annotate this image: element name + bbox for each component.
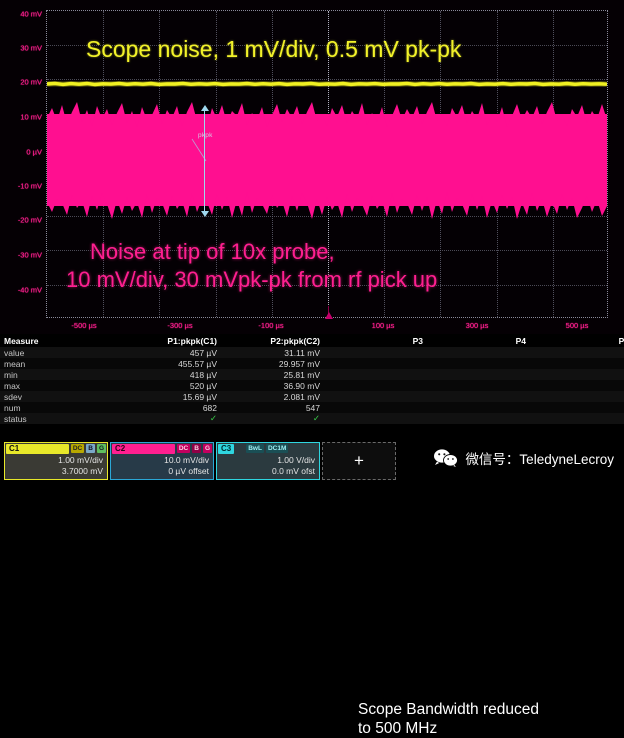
channel-flag-ground-c2[interactable]: G [203,444,212,453]
table-row: mean 455.57 µV 29.957 mV [0,358,624,369]
row-value-p2: 547 [221,402,324,413]
channel-offset-c3: 0.0 mV ofst [217,466,315,477]
measure-title: Measure [0,334,118,347]
waveform-trace-c2 [47,100,607,220]
row-label: max [0,380,118,391]
channel-values-c3: 1.00 V/div 0.0 mV ofst [217,454,319,477]
x-axis-tick: -100 µs [258,321,283,330]
measure-col-p5[interactable]: P5 [530,334,624,347]
row-value-p2: 36.90 mV [221,380,324,391]
annotation-probe-line2: 10 mV/div, 30 mVpk-pk from rf pick up [66,267,437,293]
y-axis-tick: -10 mV [0,182,42,191]
row-value-p3 [324,347,427,358]
row-value-p1: 457 µV [118,347,221,358]
annotation-bandwidth-line1: Scope Bandwidth reduced [358,700,539,719]
annotation-bandwidth: Scope Bandwidth reduced to 500 MHz [358,700,539,738]
table-row: num 682 547 [0,402,624,413]
channel-header-c1: C1 DC B G [5,443,107,454]
row-value-p1: 418 µV [118,369,221,380]
waveform-trace-c1 [47,79,607,89]
channel-values-c1: 1.00 mV/div 3.7000 mV [5,454,107,477]
y-axis-tick: 40 mV [0,10,42,19]
table-row: value 457 µV 31.11 mV [0,347,624,358]
row-label: num [0,402,118,413]
row-value-p1: 455.57 µV [118,358,221,369]
measure-col-p1[interactable]: P1:pkpk(C1) [118,334,221,347]
channel-label-c2[interactable]: C2 [112,444,175,454]
y-axis-tick: 0 µV [0,148,42,157]
channel-offset-c1: 3.7000 mV [5,466,103,477]
row-value-p5 [530,402,624,413]
channel-label-c3[interactable]: C3 [218,444,234,454]
row-label: min [0,369,118,380]
row-value-p4 [427,358,530,369]
row-value-p3 [324,402,427,413]
row-value-p4 [427,402,530,413]
trigger-marker-icon[interactable] [325,312,333,319]
row-value-p3 [324,369,427,380]
channel-flag-dc1m-c3[interactable]: DC1M [266,444,288,453]
channel-offset-c2: 0 µV offset [111,466,209,477]
channel-header-c2: C2 DC B G [111,443,213,454]
wechat-footer-badge: 微信号：TeledyneLecroy [433,448,614,468]
row-value-p3 [324,380,427,391]
row-value-p5 [530,358,624,369]
measure-col-p2[interactable]: P2:pkpk(C2) [221,334,324,347]
status-check-p2: ✓ [221,413,324,424]
row-label: status [0,413,118,424]
annotation-bandwidth-line2: to 500 MHz [358,719,539,738]
channel-flag-coupling-c1[interactable]: DC [71,444,84,453]
channel-card-c3[interactable]: C3 BwL DC1M 1.00 V/div 0.0 mV ofst [216,442,320,480]
row-value-p2: 29.957 mV [221,358,324,369]
pkpk-cursor-label: pkpk [198,132,213,139]
row-value-p2: 31.11 mV [221,347,324,358]
measure-header-row: Measure P1:pkpk(C1) P2:pkpk(C2) P3 P4 P5 [0,334,624,347]
row-value-p2: 25.81 mV [221,369,324,380]
cursor-leader-line [191,138,207,162]
add-channel-button[interactable]: + [322,442,396,480]
channel-flag-bandwidth-c1[interactable]: B [86,444,95,453]
measure-col-p4[interactable]: P4 [427,334,530,347]
channel-scale-c1: 1.00 mV/div [5,455,103,466]
annotation-scope-noise: Scope noise, 1 mV/div, 0.5 mV pk-pk [86,36,461,63]
row-value-p4 [427,413,530,424]
measure-col-p3[interactable]: P3 [324,334,427,347]
row-value-p3 [324,358,427,369]
table-row: min 418 µV 25.81 mV [0,369,624,380]
channel-values-c2: 10.0 mV/div 0 µV offset [111,454,213,477]
y-axis-tick: 20 mV [0,78,42,87]
table-row: max 520 µV 36.90 mV [0,380,624,391]
y-axis-tick: -30 mV [0,251,42,260]
channel-card-c2[interactable]: C2 DC B G 10.0 mV/div 0 µV offset [110,442,214,480]
annotation-probe-line1: Noise at tip of 10x probe, [90,239,335,265]
row-value-p4 [427,391,530,402]
row-value-p4 [427,380,530,391]
y-axis-tick: 10 mV [0,113,42,122]
x-axis-tick: -300 µs [167,321,192,330]
table-row: sdev 15.69 µV 2.081 mV [0,391,624,402]
row-value-p5 [530,347,624,358]
row-value-p1: 520 µV [118,380,221,391]
row-label: sdev [0,391,118,402]
x-axis-tick: 100 µs [372,321,395,330]
status-check-p1: ✓ [118,413,221,424]
wechat-icon [433,448,459,468]
channel-flag-ground-c1[interactable]: G [97,444,106,453]
y-axis-tick: 30 mV [0,44,42,53]
row-value-p5 [530,391,624,402]
row-value-p5 [530,413,624,424]
y-axis-tick: -20 mV [0,216,42,225]
wechat-label: 微信号：TeledyneLecroy [465,448,614,468]
row-value-p5 [530,369,624,380]
table-row: status ✓ ✓ [0,413,624,424]
measurement-table[interactable]: Measure P1:pkpk(C1) P2:pkpk(C2) P3 P4 P5… [0,334,624,436]
oscilloscope-screen: 40 mV 30 mV 20 mV 10 mV 0 µV -10 mV -20 … [0,0,624,484]
row-value-p1: 682 [118,402,221,413]
y-axis-tick: -40 mV [0,286,42,295]
row-value-p3 [324,391,427,402]
channel-flag-coupling-c2[interactable]: DC [177,444,190,453]
channel-scale-c3: 1.00 V/div [217,455,315,466]
channel-flag-bandwidth-c2[interactable]: B [192,444,201,453]
row-value-p3 [324,413,427,424]
cursor-arrow-up-icon [201,105,209,111]
row-value-p1: 15.69 µV [118,391,221,402]
waveform-plot-area[interactable]: 40 mV 30 mV 20 mV 10 mV 0 µV -10 mV -20 … [0,0,624,334]
channel-flag-bwl-c3[interactable]: BwL [246,444,264,453]
row-value-p5 [530,380,624,391]
channel-card-c1[interactable]: C1 DC B G 1.00 mV/div 3.7000 mV [4,442,108,480]
row-label: mean [0,358,118,369]
x-axis-tick: 500 µs [566,321,589,330]
channel-scale-c2: 10.0 mV/div [111,455,209,466]
row-value-p4 [427,347,530,358]
row-value-p2: 2.081 mV [221,391,324,402]
cursor-arrow-down-icon [201,211,209,217]
x-axis-tick: -500 µs [71,321,96,330]
channel-header-c3: C3 BwL DC1M [217,443,319,454]
x-axis-tick: 300 µs [466,321,489,330]
row-value-p4 [427,369,530,380]
channel-label-c1[interactable]: C1 [6,444,69,454]
row-label: value [0,347,118,358]
